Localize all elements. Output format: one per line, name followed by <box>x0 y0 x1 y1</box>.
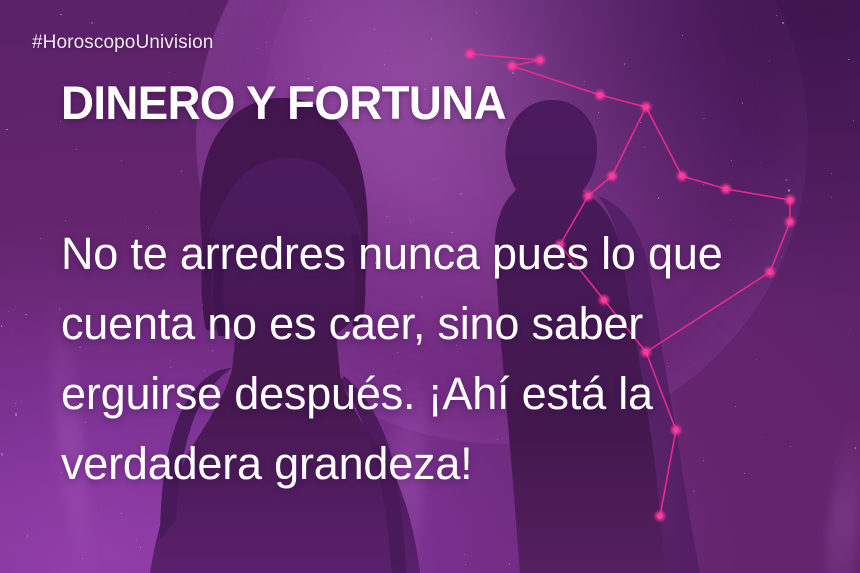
constellation-line <box>470 54 540 60</box>
constellation-line <box>512 66 600 95</box>
constellation-star <box>657 513 662 518</box>
quote-line: cuenta no es caer, sino saber <box>61 289 851 359</box>
quote-text: No te arredres nunca pues lo quecuenta n… <box>61 219 851 499</box>
constellation-star <box>723 186 728 191</box>
constellation-star <box>679 173 684 178</box>
constellation-line <box>612 107 646 176</box>
constellation-line <box>600 95 646 107</box>
constellation-line <box>726 189 790 200</box>
constellation-star <box>787 197 792 202</box>
horoscope-card: #HoroscopoUnivision DINERO Y FORTUNA No … <box>0 0 860 573</box>
quote-line: erguirse después. ¡Ahí está la <box>61 359 851 429</box>
constellation-star <box>537 57 542 62</box>
constellation-star <box>585 193 590 198</box>
constellation-star <box>509 63 514 68</box>
constellation-star <box>597 92 602 97</box>
hashtag-label: #HoroscopoUnivision <box>32 32 213 54</box>
constellation-star <box>643 104 648 109</box>
quote-line: verdadera grandeza! <box>61 429 851 499</box>
constellation-line <box>646 107 682 176</box>
quote-line: No te arredres nunca pues lo que <box>61 219 851 289</box>
constellation-star <box>467 51 472 56</box>
constellation-star <box>609 173 614 178</box>
page-title: DINERO Y FORTUNA <box>61 78 506 127</box>
